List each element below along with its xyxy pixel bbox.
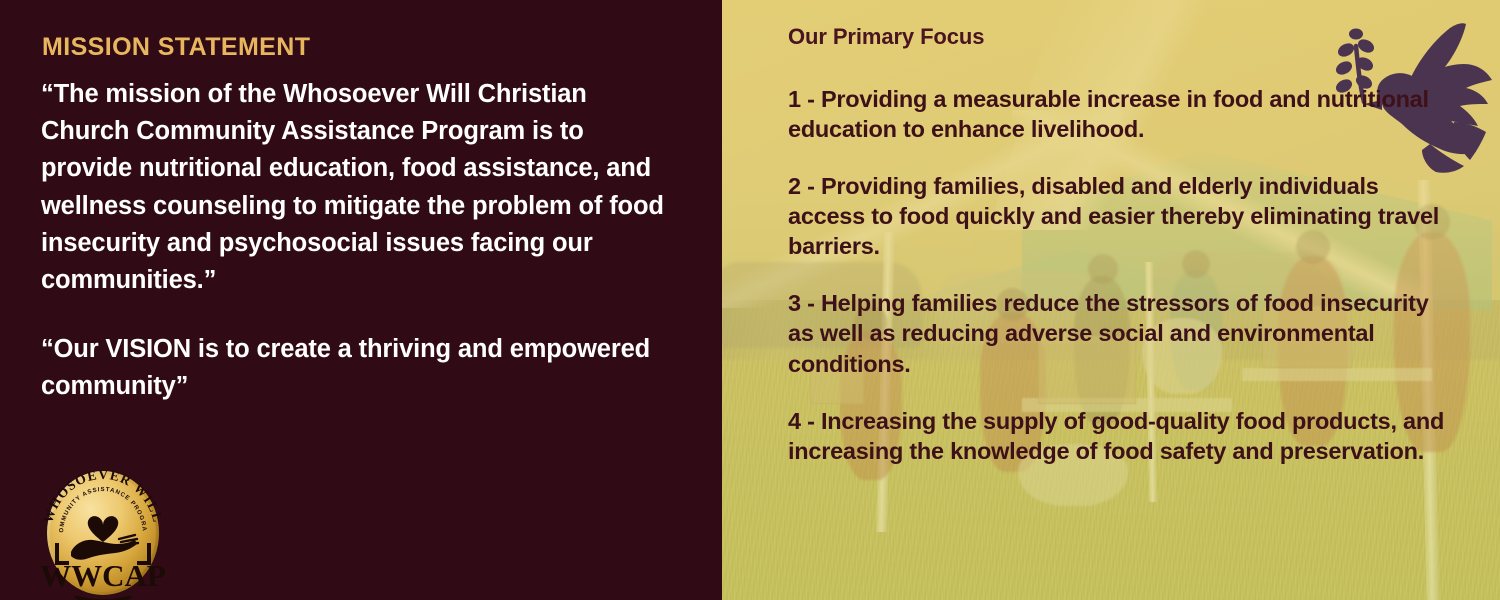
primary-focus-panel: Our Primary Focus 1 - Providing a measur… [722,0,1500,600]
mission-statement-panel: MISSION STATEMENT “The mission of the Wh… [0,0,722,600]
mission-statement-text: “The mission of the Whosoever Will Chris… [41,76,681,299]
focus-item-3: 3 - Helping families reduce the stressor… [788,288,1448,378]
vision-statement-text: “Our VISION is to create a thriving and … [41,331,681,405]
primary-focus-heading: Our Primary Focus [788,24,984,50]
primary-focus-list: 1 - Providing a measurable increase in f… [788,84,1448,466]
wwcap-logo: WHOSOEVER WILL COMMUNITY ASSISTANCE PROG… [31,443,175,600]
focus-item-2: 2 - Providing families, disabled and eld… [788,171,1448,261]
seal-acronym: WWCAP [40,558,166,593]
page-title: MISSION STATEMENT [42,34,310,62]
focus-item-1: 1 - Providing a measurable increase in f… [788,84,1448,144]
mission-vision-banner: MISSION STATEMENT “The mission of the Wh… [0,0,1500,600]
focus-item-4: 4 - Increasing the supply of good-qualit… [788,406,1448,466]
